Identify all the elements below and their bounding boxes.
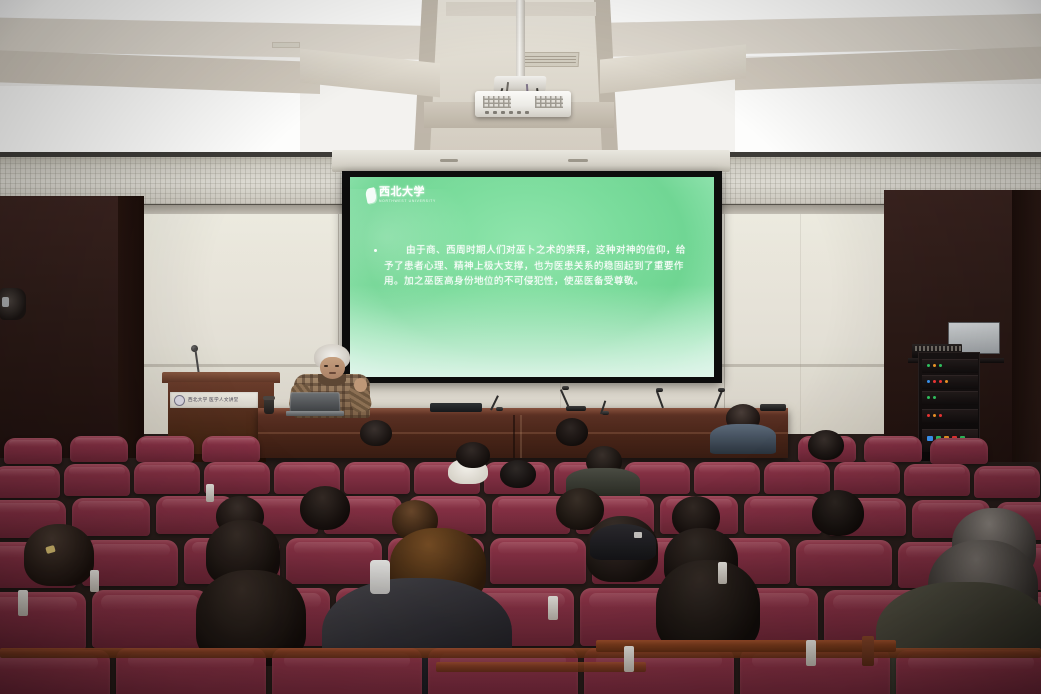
bullet-icon: [374, 249, 377, 252]
projector-mount-pole: [516, 0, 525, 78]
slide-body: 由于商、西周时期人们对巫卜之术的崇拜，这种对神的信仰，给予了患者心理、精神上极大…: [374, 243, 688, 290]
audience-head: [360, 420, 392, 446]
drink-cup: [264, 398, 274, 414]
seat: [796, 540, 892, 586]
table-control-console: [430, 403, 482, 412]
seat: [490, 538, 586, 584]
slide-paragraph: 由于商、西周时期人们对巫卜之术的崇拜，这种对神的信仰，给予了患者心理、精神上极大…: [384, 243, 688, 290]
seat: [344, 462, 410, 494]
seat-armrest: [206, 484, 214, 502]
seat-armrest: [806, 640, 816, 666]
wall-panel-left-inner: [118, 196, 144, 458]
projector-mount-bracket: [493, 76, 546, 92]
seat: [0, 466, 60, 498]
audience-head: [500, 460, 536, 488]
lecture-hall-photo: 西北大学 NORTHWEST UNIVERSITY 由于商、西周时期人们对巫卜之…: [0, 0, 1041, 694]
seat-armrest: [548, 596, 558, 620]
screen-housing: [332, 150, 730, 172]
audience-head: [808, 430, 844, 460]
wall-speaker-left: [0, 288, 26, 320]
logo-mark-icon: [365, 187, 378, 204]
presenter-face: [320, 357, 345, 379]
slide-surface: 西北大学 NORTHWEST UNIVERSITY 由于商、西周时期人们对巫卜之…: [350, 177, 714, 377]
seat: [694, 462, 760, 494]
projection-screen: 西北大学 NORTHWEST UNIVERSITY 由于商、西周时期人们对巫卜之…: [342, 171, 722, 383]
podium-plaque: 西北大学 医学人文讲堂: [170, 392, 258, 408]
logo-text-en: NORTHWEST UNIVERSITY: [379, 200, 436, 203]
university-emblem-icon: [174, 395, 185, 406]
podium-plaque-text: 西北大学 医学人文讲堂: [188, 397, 239, 403]
seat-armrest: [718, 562, 727, 584]
ceiling-projector: [475, 91, 571, 117]
university-logo: 西北大学 NORTHWEST UNIVERSITY: [366, 187, 436, 203]
seat: [864, 436, 922, 462]
seat: [202, 436, 260, 462]
presenter-laptop: [286, 392, 344, 416]
audience-head: [24, 524, 94, 586]
seat: [134, 462, 200, 494]
seat: [0, 592, 86, 650]
audience-shoulders: [710, 424, 776, 454]
audience-head: [300, 486, 350, 530]
wall-panel-right-edge: [1012, 190, 1041, 462]
seat: [930, 438, 988, 464]
ceiling-vent: [521, 52, 580, 67]
seat-desk-rail: [436, 662, 646, 672]
seat: [744, 496, 822, 534]
seat: [64, 464, 130, 496]
audience-head: [812, 490, 864, 536]
logo-text-cn: 西北大学: [379, 187, 436, 198]
seat: [136, 436, 194, 462]
audience-head: [556, 418, 588, 446]
audience-head: [456, 442, 490, 468]
seat: [70, 436, 128, 462]
seat-armrest: [18, 590, 28, 616]
seat-desk-rail: [596, 640, 896, 652]
seat: [974, 466, 1040, 498]
seat: [4, 438, 62, 464]
seat: [92, 590, 208, 648]
seat-armrest: [90, 570, 99, 592]
water-bottle: [370, 560, 390, 594]
presenter-hand: [354, 378, 367, 392]
audience-head-with-cap: [590, 524, 656, 560]
seat: [904, 464, 970, 496]
seat-armrest: [624, 646, 634, 672]
seat-armrest: [862, 636, 874, 666]
